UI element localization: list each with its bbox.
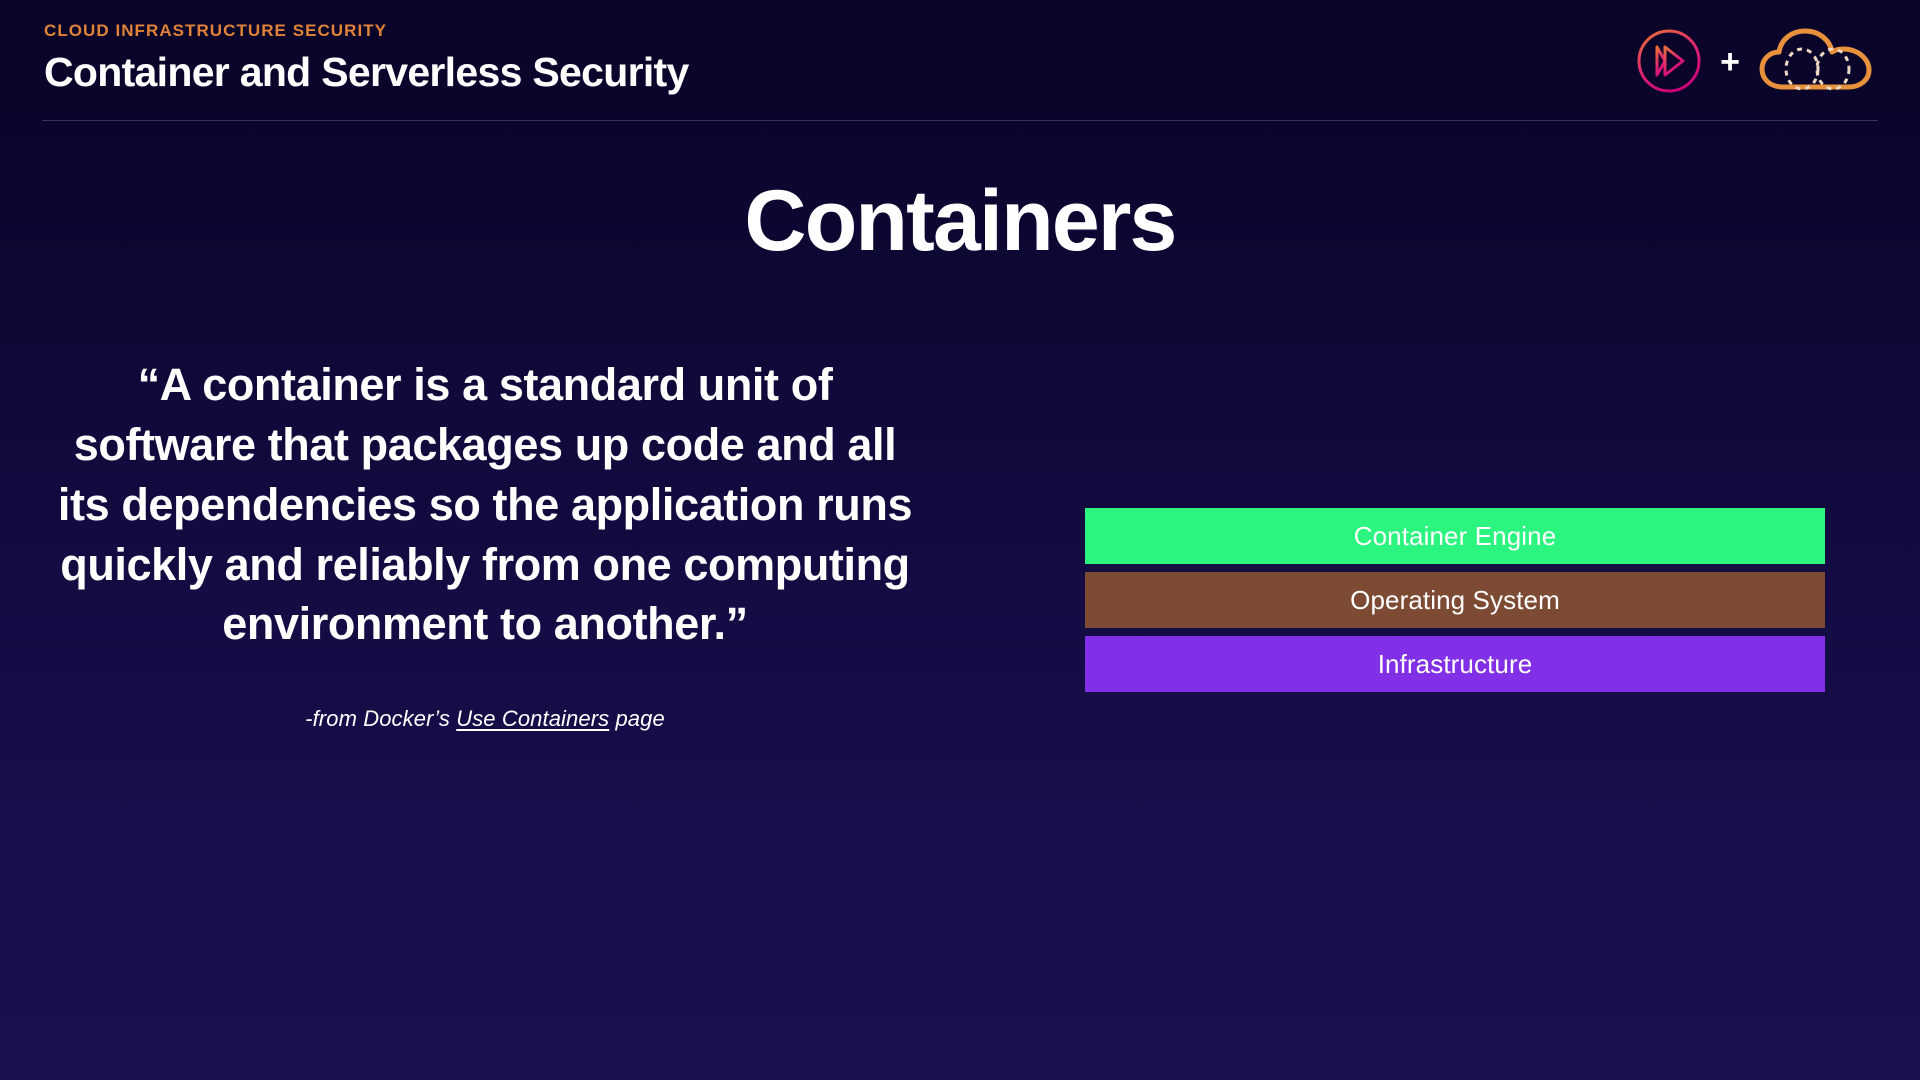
header-divider	[42, 120, 1878, 121]
stack-layer-container-engine: Container Engine	[1085, 508, 1825, 564]
slide-header: CLOUD INFRASTRUCTURE SECURITY Container …	[0, 0, 1920, 122]
use-containers-link[interactable]: Use Containers	[456, 706, 609, 731]
course-eyebrow-label: CLOUD INFRASTRUCTURE SECURITY	[44, 22, 689, 41]
attribution-suffix: page	[609, 706, 665, 731]
attribution-prefix: -from Docker’s	[305, 706, 456, 731]
stack-layer-label: Operating System	[1350, 585, 1560, 616]
stack-layer-infrastructure: Infrastructure	[1085, 636, 1825, 692]
plus-separator-label: +	[1720, 45, 1740, 79]
quote-text: “A container is a standard unit of softw…	[45, 355, 925, 654]
stack-layer-label: Container Engine	[1354, 521, 1557, 552]
course-title: Container and Serverless Security	[44, 50, 689, 94]
cloud-logo-icon	[1757, 25, 1875, 97]
play-circle-logo-icon	[1635, 27, 1703, 95]
quote-block: “A container is a standard unit of softw…	[45, 355, 925, 732]
header-text-group: CLOUD INFRASTRUCTURE SECURITY Container …	[44, 22, 689, 94]
quote-attribution: -from Docker’s Use Containers page	[45, 706, 925, 732]
stack-layer-label: Infrastructure	[1378, 649, 1533, 680]
logo-group: +	[1635, 25, 1875, 97]
container-stack-diagram: Container Engine Operating System Infras…	[1085, 508, 1825, 692]
stack-layer-operating-system: Operating System	[1085, 572, 1825, 628]
slide-title: Containers	[0, 178, 1920, 264]
